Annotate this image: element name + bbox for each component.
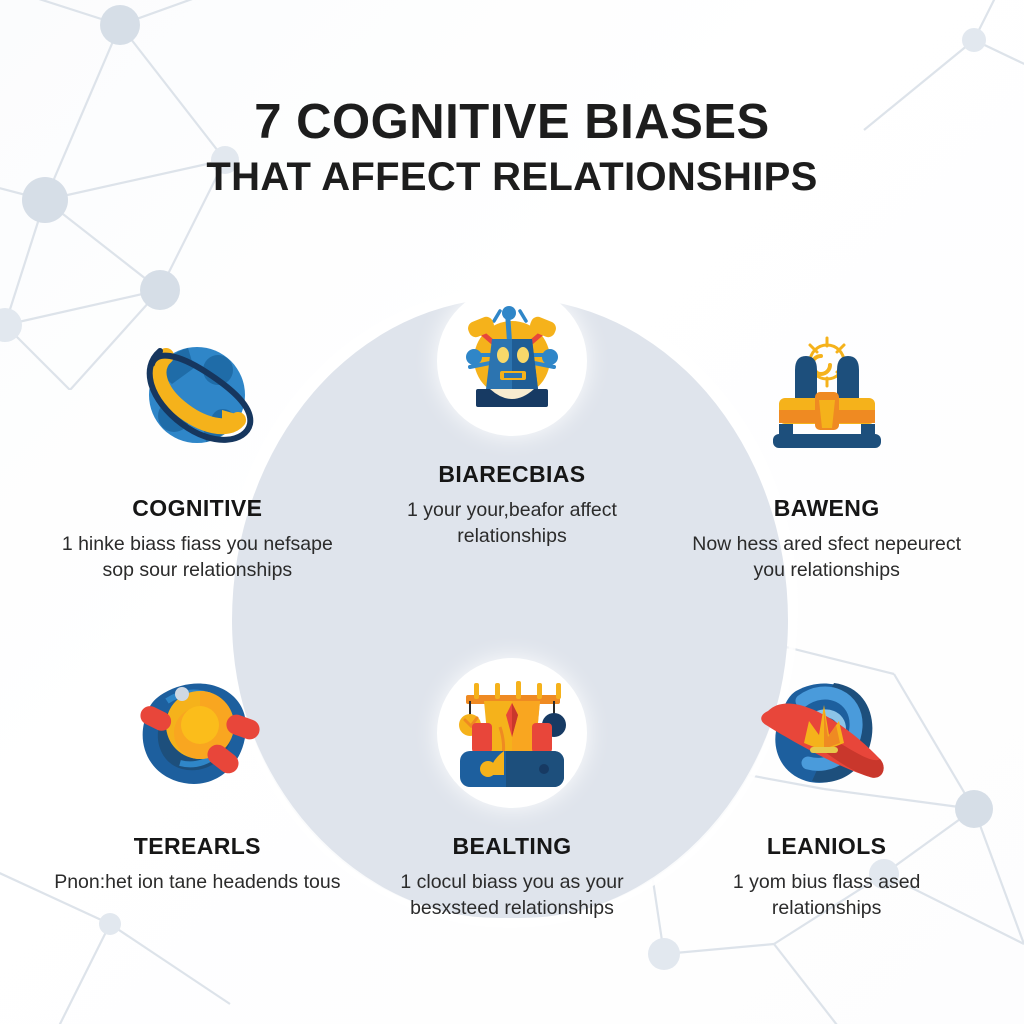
poster-header: 7 COGNITIVE BIASES THAT AFFECT RELATIONS… xyxy=(0,96,1024,200)
abstract-spiral-blob-icon xyxy=(122,663,272,803)
bias-title: BEALTING xyxy=(362,834,662,859)
bias-title: BIARECBIAS xyxy=(362,462,662,487)
page-title-line2: THAT AFFECT RELATIONSHIPS xyxy=(0,155,1024,200)
icon-badge-baweng xyxy=(752,320,902,470)
bias-title: BAWENG xyxy=(677,496,977,521)
bias-text-cognitive: COGNITIVE 1 hinke biass fiass you nefsap… xyxy=(47,496,347,584)
icon-badge-leaniols xyxy=(752,658,902,808)
robot-head-icon xyxy=(448,297,576,425)
bias-text-leaniols: LEANIOLS 1 yom bius flass ased relations… xyxy=(677,834,977,922)
planet-ring-icon xyxy=(122,320,272,470)
bias-text-terearls: TEREARLS Pnon:het ion tane headends tous xyxy=(47,834,347,895)
bias-item-leaniols[interactable]: LEANIOLS 1 yom bius flass ased relations… xyxy=(669,658,984,988)
balance-scale-icon xyxy=(448,669,576,797)
bias-item-baweng[interactable]: BAWENG Now hess ared sfect nepeurect you… xyxy=(669,320,984,658)
bias-title: TEREARLS xyxy=(47,834,347,859)
bias-text-baweng: BAWENG Now hess ared sfect nepeurect you… xyxy=(677,496,977,584)
swirl-crown-icon xyxy=(752,663,902,803)
bias-title: LEANIOLS xyxy=(677,834,977,859)
bias-text-biarecbias: BIARECBIAS 1 your your,beafor affect rel… xyxy=(362,462,662,550)
bias-item-cognitive[interactable]: COGNITIVE 1 hinke biass fiass you nefsap… xyxy=(40,320,355,658)
infographic-poster: 7 COGNITIVE BIASES THAT AFFECT RELATIONS… xyxy=(0,0,1024,1024)
icon-badge-terearls xyxy=(122,658,272,808)
bias-text-bealting: BEALTING 1 clocul biass you as your besx… xyxy=(362,834,662,922)
bias-description: 1 clocul biass you as your besxsteed rel… xyxy=(362,869,662,921)
bias-title: COGNITIVE xyxy=(47,496,347,521)
bias-item-biarecbias[interactable]: BIARECBIAS 1 your your,beafor affect rel… xyxy=(355,286,670,658)
bias-item-bealting[interactable]: BEALTING 1 clocul biass you as your besx… xyxy=(355,658,670,988)
bias-description: 1 hinke biass fiass you nefsape sop sour… xyxy=(47,531,347,583)
icon-badge-cognitive xyxy=(122,320,272,470)
bias-description: Pnon:het ion tane headends tous xyxy=(47,869,347,895)
bias-grid: COGNITIVE 1 hinke biass fiass you nefsap… xyxy=(40,320,984,988)
bias-description: Now hess ared sfect nepeurect you relati… xyxy=(677,531,977,583)
page-title-line1: 7 COGNITIVE BIASES xyxy=(0,96,1024,149)
couple-on-sofa-icon xyxy=(757,330,897,460)
bias-description: 1 yom bius flass ased relationships xyxy=(677,869,977,921)
bias-item-terearls[interactable]: TEREARLS Pnon:het ion tane headends tous xyxy=(40,658,355,988)
bias-description: 1 your your,beafor affect relationships xyxy=(362,497,662,549)
icon-badge-biarecbias xyxy=(437,286,587,436)
icon-badge-bealting xyxy=(437,658,587,808)
